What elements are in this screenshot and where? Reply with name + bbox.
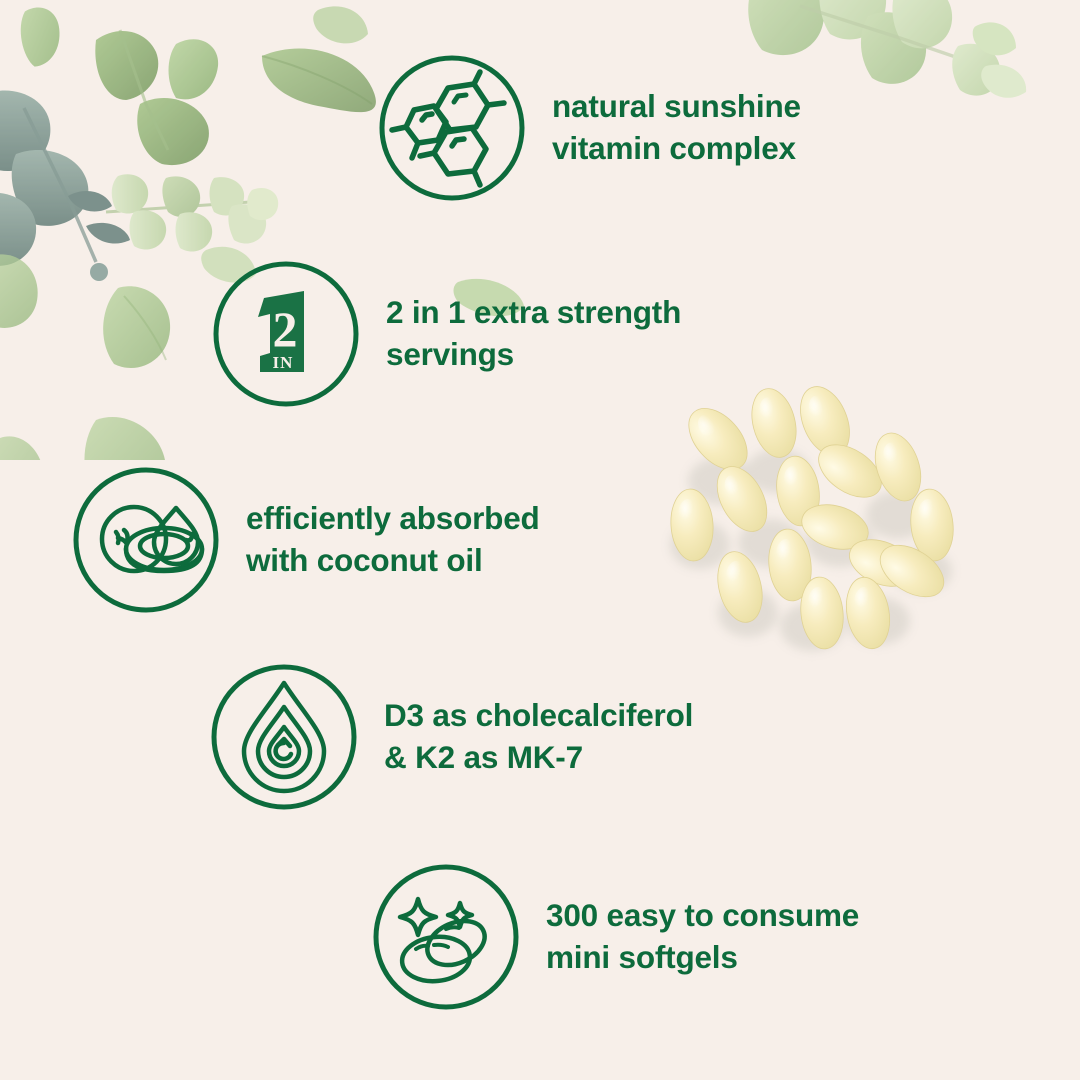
feature-label: 300 easy to consume mini softgels bbox=[546, 895, 859, 979]
coconut-oil-droplet-icon bbox=[72, 466, 220, 614]
molecule-hexagons-icon bbox=[378, 54, 526, 202]
droplet-spiral-icon bbox=[210, 663, 358, 811]
two-in-one-badge-icon: 2 IN bbox=[212, 260, 360, 408]
feature-row-d3-k2: D3 as cholecalciferol & K2 as MK-7 bbox=[210, 663, 693, 811]
feature-label: natural sunshine vitamin complex bbox=[552, 86, 801, 170]
feature-row-mini-softgels: 300 easy to consume mini softgels bbox=[372, 863, 859, 1011]
feature-row-natural-sunshine: natural sunshine vitamin complex bbox=[378, 54, 801, 202]
softgel-capsule-cluster bbox=[650, 375, 1020, 685]
feature-row-coconut-oil: efficiently absorbed with coconut oil bbox=[72, 466, 540, 614]
feature-label: D3 as cholecalciferol & K2 as MK-7 bbox=[384, 695, 693, 779]
badge-number: 2 bbox=[273, 301, 298, 357]
sparkle-softgels-icon bbox=[372, 863, 520, 1011]
product-benefits-panel: natural sunshine vitamin complex 2 IN 2 … bbox=[0, 0, 1080, 1080]
feature-row-two-in-one: 2 IN 2 in 1 extra strength servings bbox=[212, 260, 681, 408]
feature-label: 2 in 1 extra strength servings bbox=[386, 292, 681, 376]
feature-label: efficiently absorbed with coconut oil bbox=[246, 498, 540, 582]
badge-word: IN bbox=[273, 353, 294, 372]
